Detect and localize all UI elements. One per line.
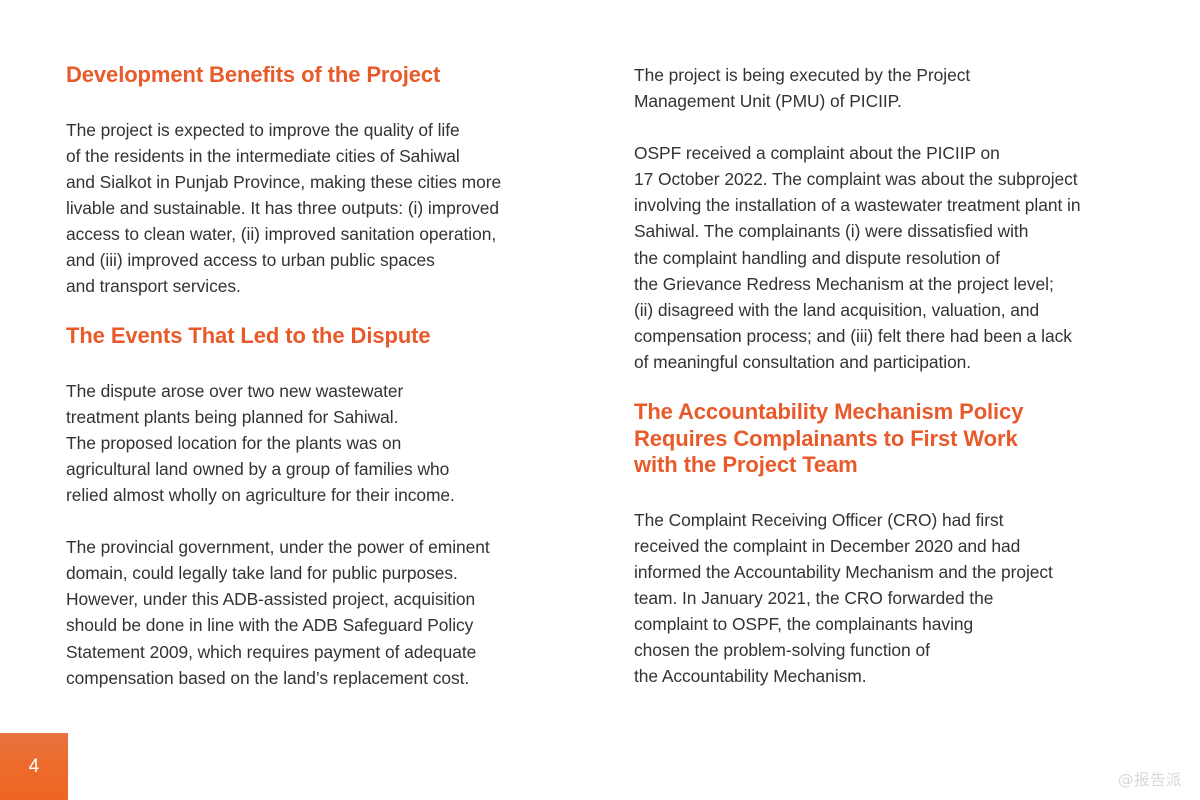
- spacer: [66, 89, 544, 117]
- left-heading-events-led-to-dispute: The Events That Led to the Dispute: [66, 323, 544, 350]
- two-column-layout: Development Benefits of the Project The …: [66, 62, 1134, 691]
- page-number-tab: 4: [0, 733, 68, 800]
- spacer: [66, 299, 544, 323]
- page-number-label: 4: [29, 757, 40, 776]
- right-heading-accountability-mechanism-policy: The Accountability Mechanism Policy Requ…: [634, 399, 1134, 479]
- left-column: Development Benefits of the Project The …: [66, 62, 566, 691]
- left-paragraph-dispute-origin: The dispute arose over two new wastewate…: [66, 378, 544, 508]
- spacer: [634, 479, 1134, 507]
- spacer: [66, 508, 544, 534]
- right-paragraph-cro-timeline: The Complaint Receiving Officer (CRO) ha…: [634, 507, 1134, 690]
- right-paragraph-pmu-execution: The project is being executed by the Pro…: [634, 62, 1134, 114]
- left-paragraph-eminent-domain: The provincial government, under the pow…: [66, 534, 544, 691]
- right-paragraph-ospf-complaint: OSPF received a complaint about the PICI…: [634, 140, 1134, 375]
- right-column: The project is being executed by the Pro…: [566, 62, 1134, 691]
- document-page: Development Benefits of the Project The …: [0, 0, 1200, 800]
- left-paragraph-project-overview: The project is expected to improve the q…: [66, 117, 544, 300]
- watermark-label: @报告派: [1118, 773, 1182, 789]
- spacer: [634, 114, 1134, 140]
- left-heading-development-benefits: Development Benefits of the Project: [66, 62, 544, 89]
- spacer: [66, 350, 544, 378]
- spacer: [634, 375, 1134, 399]
